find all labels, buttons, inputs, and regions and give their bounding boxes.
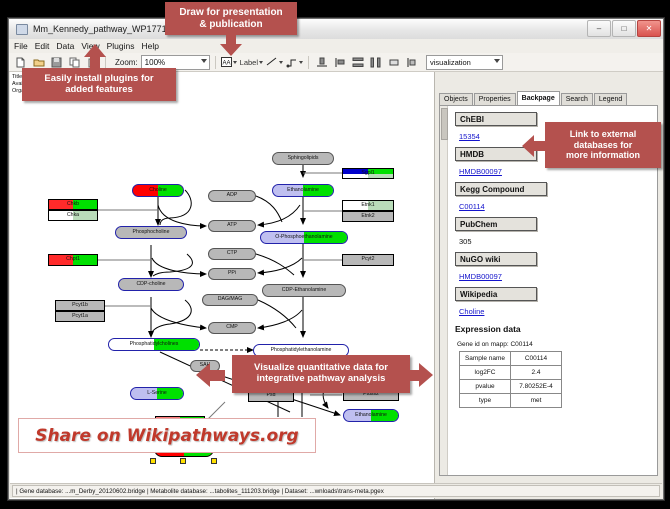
window-controls[interactable]: – □ ✕ <box>587 20 661 37</box>
zoom-value: 100% <box>145 58 165 67</box>
app-icon <box>15 23 29 35</box>
table-cell-key: Sample name <box>460 352 511 366</box>
menu-item-data[interactable]: Data <box>56 41 74 51</box>
chevron-down-icon <box>201 59 207 63</box>
tab-legend[interactable]: Legend <box>594 93 627 105</box>
node-label: Ptdss2 <box>363 392 379 397</box>
line-tool-dropdown[interactable] <box>266 57 283 67</box>
node-label: DAG/MAG <box>218 297 243 302</box>
callout-share-box: Share on Wikipathways.org <box>18 418 316 453</box>
metabolite-node-l-serine-left[interactable]: L-Serine <box>130 387 184 400</box>
status-text: | Gene database: ...m_Derby_20120602.bri… <box>12 485 660 497</box>
db-header-chebi: ChEBI <box>455 112 537 126</box>
cofactor-node[interactable]: CMP <box>208 322 256 334</box>
table-cell-value: met <box>511 394 562 408</box>
label-dropdown[interactable]: Label <box>240 58 263 67</box>
menu-item-edit[interactable]: Edit <box>35 41 50 51</box>
callout-links: Link to external databases for more info… <box>545 122 661 168</box>
group-icon[interactable] <box>386 55 401 70</box>
node-label: Pcyt1b <box>72 303 88 308</box>
node-label: Pcyt1a <box>72 314 88 319</box>
connector-tool-dropdown[interactable] <box>286 57 303 68</box>
node-label: Chka <box>67 213 79 218</box>
table-cell-value: 2.4 <box>511 366 562 380</box>
distribute-vertical-icon[interactable] <box>350 55 365 70</box>
callout-visualize: Visualize quantitative data for integrat… <box>232 355 410 393</box>
node-label: Etnk1 <box>361 203 374 208</box>
minimize-button[interactable]: – <box>587 20 611 37</box>
expression-data-header: Expression data <box>455 324 657 334</box>
node-label: Sgpl1 <box>361 171 374 176</box>
metabolite-node-sphingolipids[interactable]: Sphingolipids <box>272 152 334 165</box>
tab-backpage[interactable]: Backpage <box>517 91 560 105</box>
callout-arrow-left-links <box>522 134 548 158</box>
toolbar-separator <box>215 56 216 69</box>
table-row: pvalue 7.80252E-4 <box>460 380 562 394</box>
gene-node-chpt1[interactable]: Chpt1 <box>48 254 98 266</box>
node-label: Choline <box>149 188 167 193</box>
db-header-wikipedia: Wikipedia <box>455 287 537 301</box>
maximize-button[interactable]: □ <box>612 20 636 37</box>
resize-handle-s[interactable] <box>180 458 186 464</box>
metabolite-node-phosphatidylcholines[interactable]: Phosphatidylcholines <box>108 338 200 351</box>
node-label: Psd <box>267 393 276 398</box>
resize-handle-se[interactable] <box>211 458 217 464</box>
node-label: Phosphatidylcholines <box>130 342 179 347</box>
screenshot-root: Mm_Kennedy_pathway_WP1771_45176.gpml – □… <box>0 0 670 509</box>
table-cell-key: type <box>460 394 511 408</box>
callout-draw: Draw for presentation & publication <box>165 2 297 35</box>
node-label: L-Serine <box>147 391 167 396</box>
zoom-label: Zoom: <box>115 58 138 67</box>
menu-item-help[interactable]: Help <box>142 41 159 51</box>
table-row: Sample name C00114 <box>460 352 562 366</box>
node-label: CDP-choline <box>136 282 165 287</box>
table-row: log2FC 2.4 <box>460 366 562 380</box>
db-link-wikipedia[interactable]: Choline <box>459 307 484 316</box>
node-label: PPi <box>228 271 236 276</box>
db-value-pubchem: 305 <box>459 237 472 246</box>
cofactor-node[interactable]: DAG/MAG <box>202 294 258 306</box>
node-label: Chkb <box>67 202 79 207</box>
gene-node-pcyt1b[interactable]: Pcyt1b <box>55 300 105 311</box>
cofactor-node[interactable]: PPi <box>208 268 256 280</box>
node-label: Pcyt2 <box>362 257 375 262</box>
align-top-icon[interactable] <box>314 55 329 70</box>
metabolite-node-o-phosphoethanolamine[interactable]: O-Phosphoethanolamine <box>260 231 348 244</box>
metabolite-node-ethanolamine-right[interactable]: Ethanolamine <box>343 409 399 422</box>
visualization-value: visualization <box>430 58 471 67</box>
gene-node-pcyt2[interactable]: Pcyt2 <box>342 254 394 266</box>
chevron-down-icon <box>494 59 500 63</box>
table-cell-key: pvalue <box>460 380 511 394</box>
menu-item-plugins[interactable]: Plugins <box>107 41 135 51</box>
chevron-down-icon <box>233 61 237 64</box>
close-button[interactable]: ✕ <box>637 20 661 37</box>
node-label: O-Phosphoethanolamine <box>275 235 332 240</box>
db-header-kegg: Kegg Compound <box>455 182 547 196</box>
table-cell-value: 7.80252E-4 <box>511 380 562 394</box>
metabolite-node-choline-top[interactable]: Choline <box>132 184 184 197</box>
panel-tabs: Objects Properties Backpage Search Legen… <box>439 92 628 105</box>
node-label: Etnk2 <box>361 214 374 219</box>
db-link-hmdb[interactable]: HMDB00097 <box>459 167 502 176</box>
toolbar-separator <box>308 56 309 69</box>
callout-arrow-down-draw <box>218 34 244 58</box>
node-label: Chpt1 <box>66 257 80 262</box>
datanode-dropdown[interactable]: AA <box>221 57 237 67</box>
menu-item-file[interactable]: File <box>14 41 28 51</box>
metabolite-node-phosphocholine[interactable]: Phosphocholine <box>115 226 187 239</box>
visualization-select[interactable]: visualization <box>426 55 503 70</box>
title-bar: Mm_Kennedy_pathway_WP1771_45176.gpml – □… <box>9 19 663 40</box>
table-cell-key: log2FC <box>460 366 511 380</box>
label-dropdown-text: Label <box>240 58 258 67</box>
gene-node-etnk1[interactable]: Etnk1 <box>342 200 394 211</box>
gene-node-etnk2[interactable]: Etnk2 <box>342 211 394 222</box>
metabolite-node-cdp-choline[interactable]: CDP-choline <box>118 278 184 291</box>
distribute-horizontal-icon[interactable] <box>368 55 383 70</box>
callout-plugins: Easily install plugins for added feature… <box>22 68 176 101</box>
align-left-icon[interactable] <box>332 55 347 70</box>
resize-handle-sw[interactable] <box>150 458 156 464</box>
chevron-down-icon <box>279 61 283 64</box>
tab-objects[interactable]: Objects <box>439 93 473 105</box>
node-label: CMP <box>226 325 238 330</box>
chevron-down-icon <box>259 61 263 64</box>
db-link-kegg[interactable]: C00114 <box>459 202 485 211</box>
db-link-chebi[interactable]: 15354 <box>459 132 480 141</box>
callout-share-text: Share on Wikipathways.org <box>35 426 298 446</box>
node-label: CTP <box>227 251 237 256</box>
node-label: CDP-Ethanolamine <box>282 288 326 293</box>
db-link-nugo[interactable]: HMDB00097 <box>459 272 502 281</box>
chevron-down-icon <box>299 61 303 64</box>
gene-node-sgpl1[interactable]: Sgpl1 <box>342 168 394 179</box>
gene-node-pcyt1a[interactable]: Pcyt1a <box>55 311 105 322</box>
node-label: Ethanolamine <box>355 413 387 418</box>
cofactor-node[interactable]: ADP <box>208 190 256 202</box>
node-label: Phosphocholine <box>133 230 170 235</box>
metabolite-node-ethanolamine[interactable]: Ethanolamine <box>272 184 334 197</box>
node-label: ADP <box>227 193 238 198</box>
node-label: Phosphatidylethanolamine <box>271 348 332 353</box>
scrollbar-thumb[interactable] <box>441 108 448 140</box>
node-label: Sphingolipids <box>288 156 319 161</box>
callout-arrow-up-plugins <box>82 44 108 70</box>
order-icon[interactable] <box>404 55 419 70</box>
cofactor-node[interactable]: ATP <box>208 220 256 232</box>
table-row: type met <box>460 394 562 408</box>
db-header-pubchem: PubChem <box>455 217 537 231</box>
panel-scrollbar[interactable] <box>440 106 448 475</box>
tab-search[interactable]: Search <box>561 93 593 105</box>
gene-id-line: Gene id on mapp: C00114 <box>457 341 657 348</box>
gene-node-chkb[interactable]: Chkb <box>48 199 98 210</box>
callout-arrow-left-visualize <box>196 362 226 388</box>
node-label: ATP <box>227 223 237 228</box>
callout-arrow-right-visualize <box>404 362 434 388</box>
status-bar: | Gene database: ...m_Derby_20120602.bri… <box>10 483 662 498</box>
gene-node-chka[interactable]: Chka <box>48 210 98 221</box>
db-header-nugo: NuGO wiki <box>455 252 537 266</box>
table-cell-value: C00114 <box>511 352 562 366</box>
svg-text:AA: AA <box>222 61 230 67</box>
cofactor-node[interactable]: CTP <box>208 248 256 260</box>
metabolite-node-cdp-ethanolamine[interactable]: CDP-Ethanolamine <box>262 284 346 297</box>
expression-data-table: Sample name C00114 log2FC 2.4 pvalue 7.8… <box>459 351 562 408</box>
node-label: Ethanolamine <box>287 188 319 193</box>
tab-properties[interactable]: Properties <box>474 93 516 105</box>
